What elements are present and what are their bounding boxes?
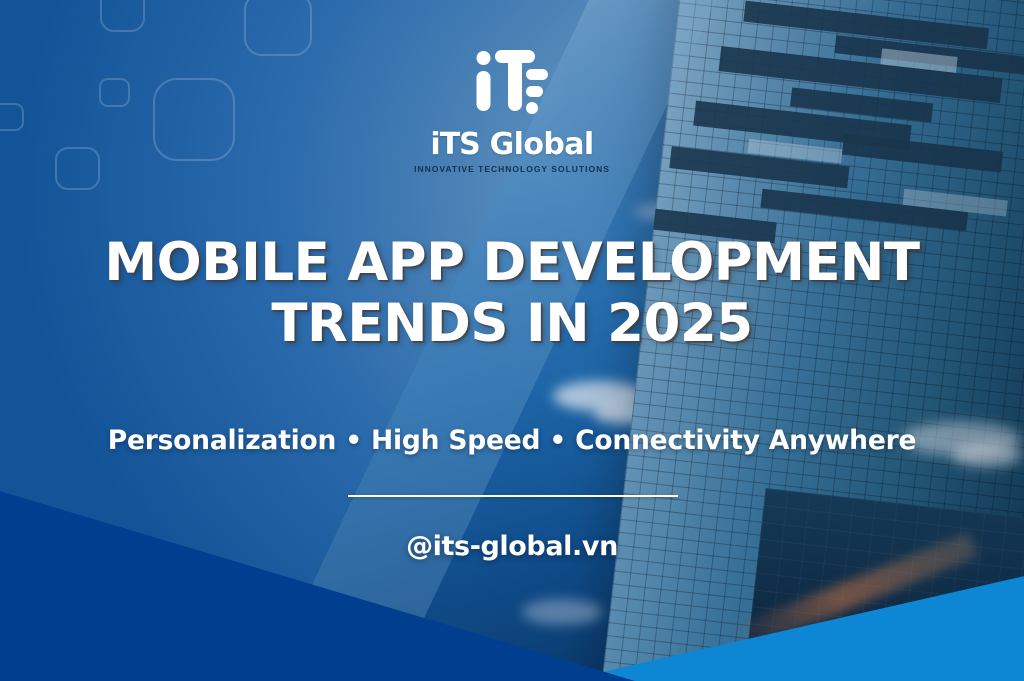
page-title: MOBILE APP DEVELOPMENT TRENDS IN 2025 [0, 232, 1024, 355]
headline-line-1: MOBILE APP DEVELOPMENT [104, 232, 919, 293]
brand-wordmark: iTS Global [430, 130, 593, 160]
content-layer: iTS Global INNOVATIVE TECHNOLOGY SOLUTIO… [0, 0, 1024, 681]
brand-tagline: INNOVATIVE TECHNOLOGY SOLUTIONS [414, 164, 610, 174]
brand-name-prefix: iTS [430, 127, 479, 162]
headline-line-2: TRENDS IN 2025 [0, 293, 1024, 354]
promo-banner: iTS Global INNOVATIVE TECHNOLOGY SOLUTIO… [0, 0, 1024, 681]
brand-name-suffix: Global [490, 127, 594, 162]
its-monogram-icon [474, 48, 550, 126]
subheadline: Personalization • High Speed • Connectiv… [0, 425, 1024, 456]
website-handle: @its-global.vn [0, 531, 1024, 562]
brand-logo: iTS Global INNOVATIVE TECHNOLOGY SOLUTIO… [0, 48, 1024, 174]
divider-rule [348, 495, 678, 497]
